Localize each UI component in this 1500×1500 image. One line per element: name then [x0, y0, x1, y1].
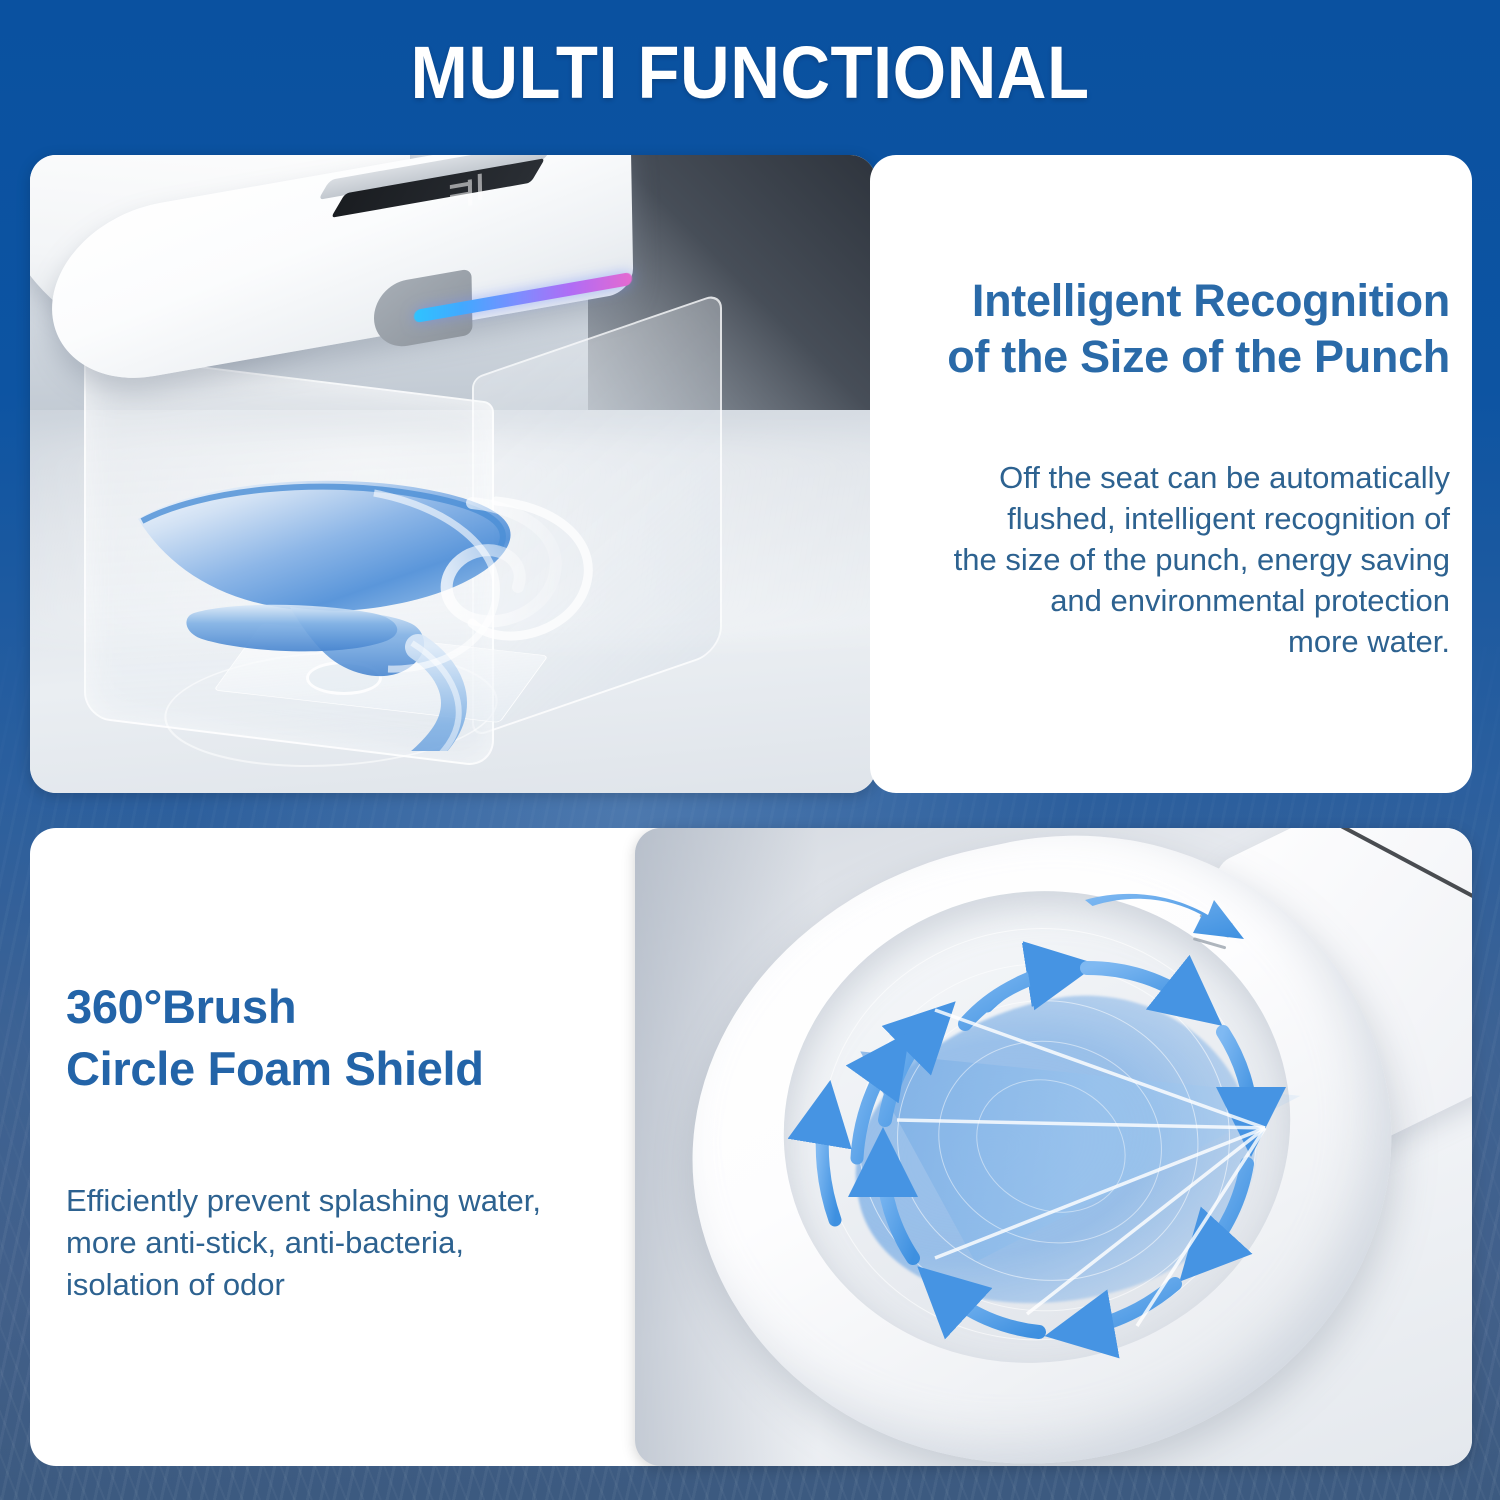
section-heading-brush-circle-foam-shield: 360°Brush Circle Foam Shield: [66, 976, 650, 1100]
section-card-intelligent-recognition: Intelligent Recognition of the Size of t…: [870, 155, 1472, 793]
section-card-brush-circle-foam-shield: 360°Brush Circle Foam Shield Efficiently…: [30, 828, 690, 1466]
water-direction-arrows: [635, 828, 1472, 1466]
water-flow-graphic: [76, 351, 736, 751]
page-title: MULTI FUNCTIONAL: [53, 30, 1448, 116]
body-line: the size of the punch, energy saving: [890, 539, 1450, 580]
toilet-bowl-scene: [635, 828, 1472, 1466]
section-body-brush-circle-foam-shield: Efficiently prevent splashing water, mor…: [66, 1180, 650, 1306]
transparent-toilet-body: [76, 351, 736, 751]
toilet-lid: [52, 171, 652, 371]
body-line: and environmental protection: [890, 580, 1450, 621]
heading-line: Intelligent Recognition: [890, 273, 1450, 329]
body-line: isolation of odor: [66, 1264, 650, 1306]
body-line: Efficiently prevent splashing water,: [66, 1180, 650, 1222]
heading-line: of the Size of the Punch: [890, 329, 1450, 385]
body-line: more anti-stick, anti-bacteria,: [66, 1222, 650, 1264]
toilet-cutaway-scene: [30, 155, 876, 793]
heading-line: Circle Foam Shield: [66, 1038, 650, 1100]
heading-line: 360°Brush: [66, 976, 650, 1038]
section-body-intelligent-recognition: Off the seat can be automatically flushe…: [890, 457, 1450, 662]
section-heading-intelligent-recognition: Intelligent Recognition of the Size of t…: [890, 273, 1450, 385]
body-line: more water.: [890, 621, 1450, 662]
body-line: Off the seat can be automatically: [890, 457, 1450, 498]
image-toilet-bowl-360-swirl-arrows: [635, 828, 1472, 1466]
image-transparent-smart-toilet-water-flow: [30, 155, 876, 793]
body-line: flushed, intelligent recognition of: [890, 498, 1450, 539]
